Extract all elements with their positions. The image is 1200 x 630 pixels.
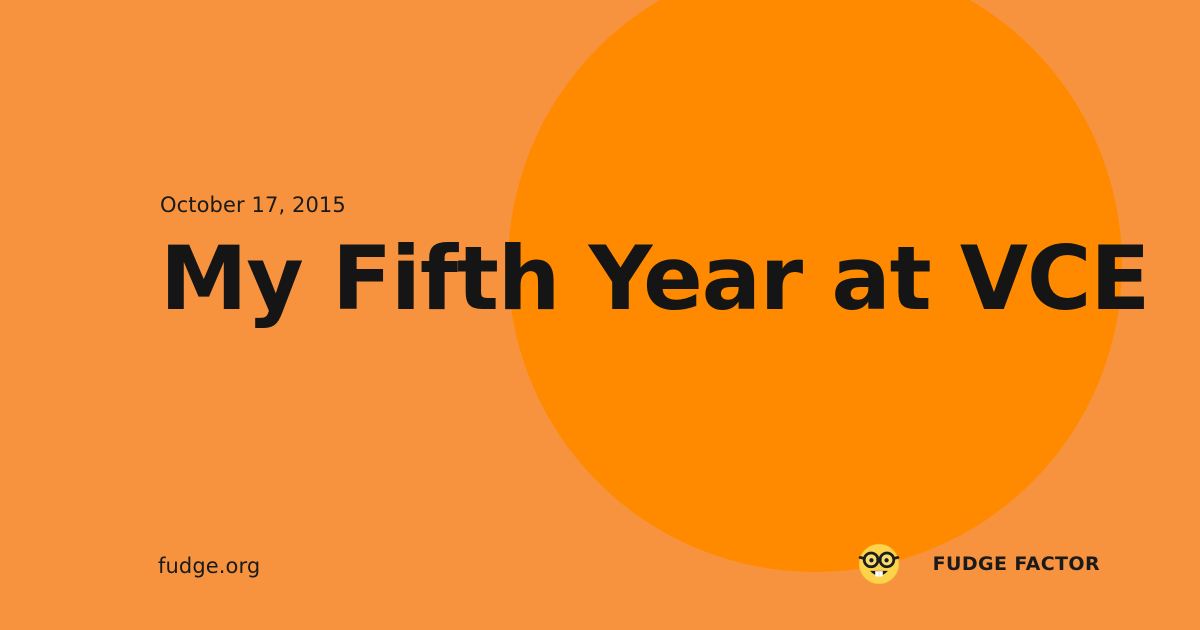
card-footer: fudge.org xyxy=(0,520,1200,630)
card-content: October 17, 2015 My Fifth Year at VCE fu… xyxy=(0,0,1200,630)
nerd-face-emoji xyxy=(857,542,901,586)
headline-block: October 17, 2015 My Fifth Year at VCE xyxy=(160,192,1060,320)
brand-name-label: FUDGE FACTOR xyxy=(933,553,1100,575)
social-share-card: October 17, 2015 My Fifth Year at VCE fu… xyxy=(0,0,1200,630)
page-title: My Fifth Year at VCE xyxy=(160,239,1060,320)
post-date: October 17, 2015 xyxy=(160,192,1060,218)
brand-lockup: FUDGE FACTOR xyxy=(857,542,1100,586)
site-url-label[interactable]: fudge.org xyxy=(158,554,260,578)
